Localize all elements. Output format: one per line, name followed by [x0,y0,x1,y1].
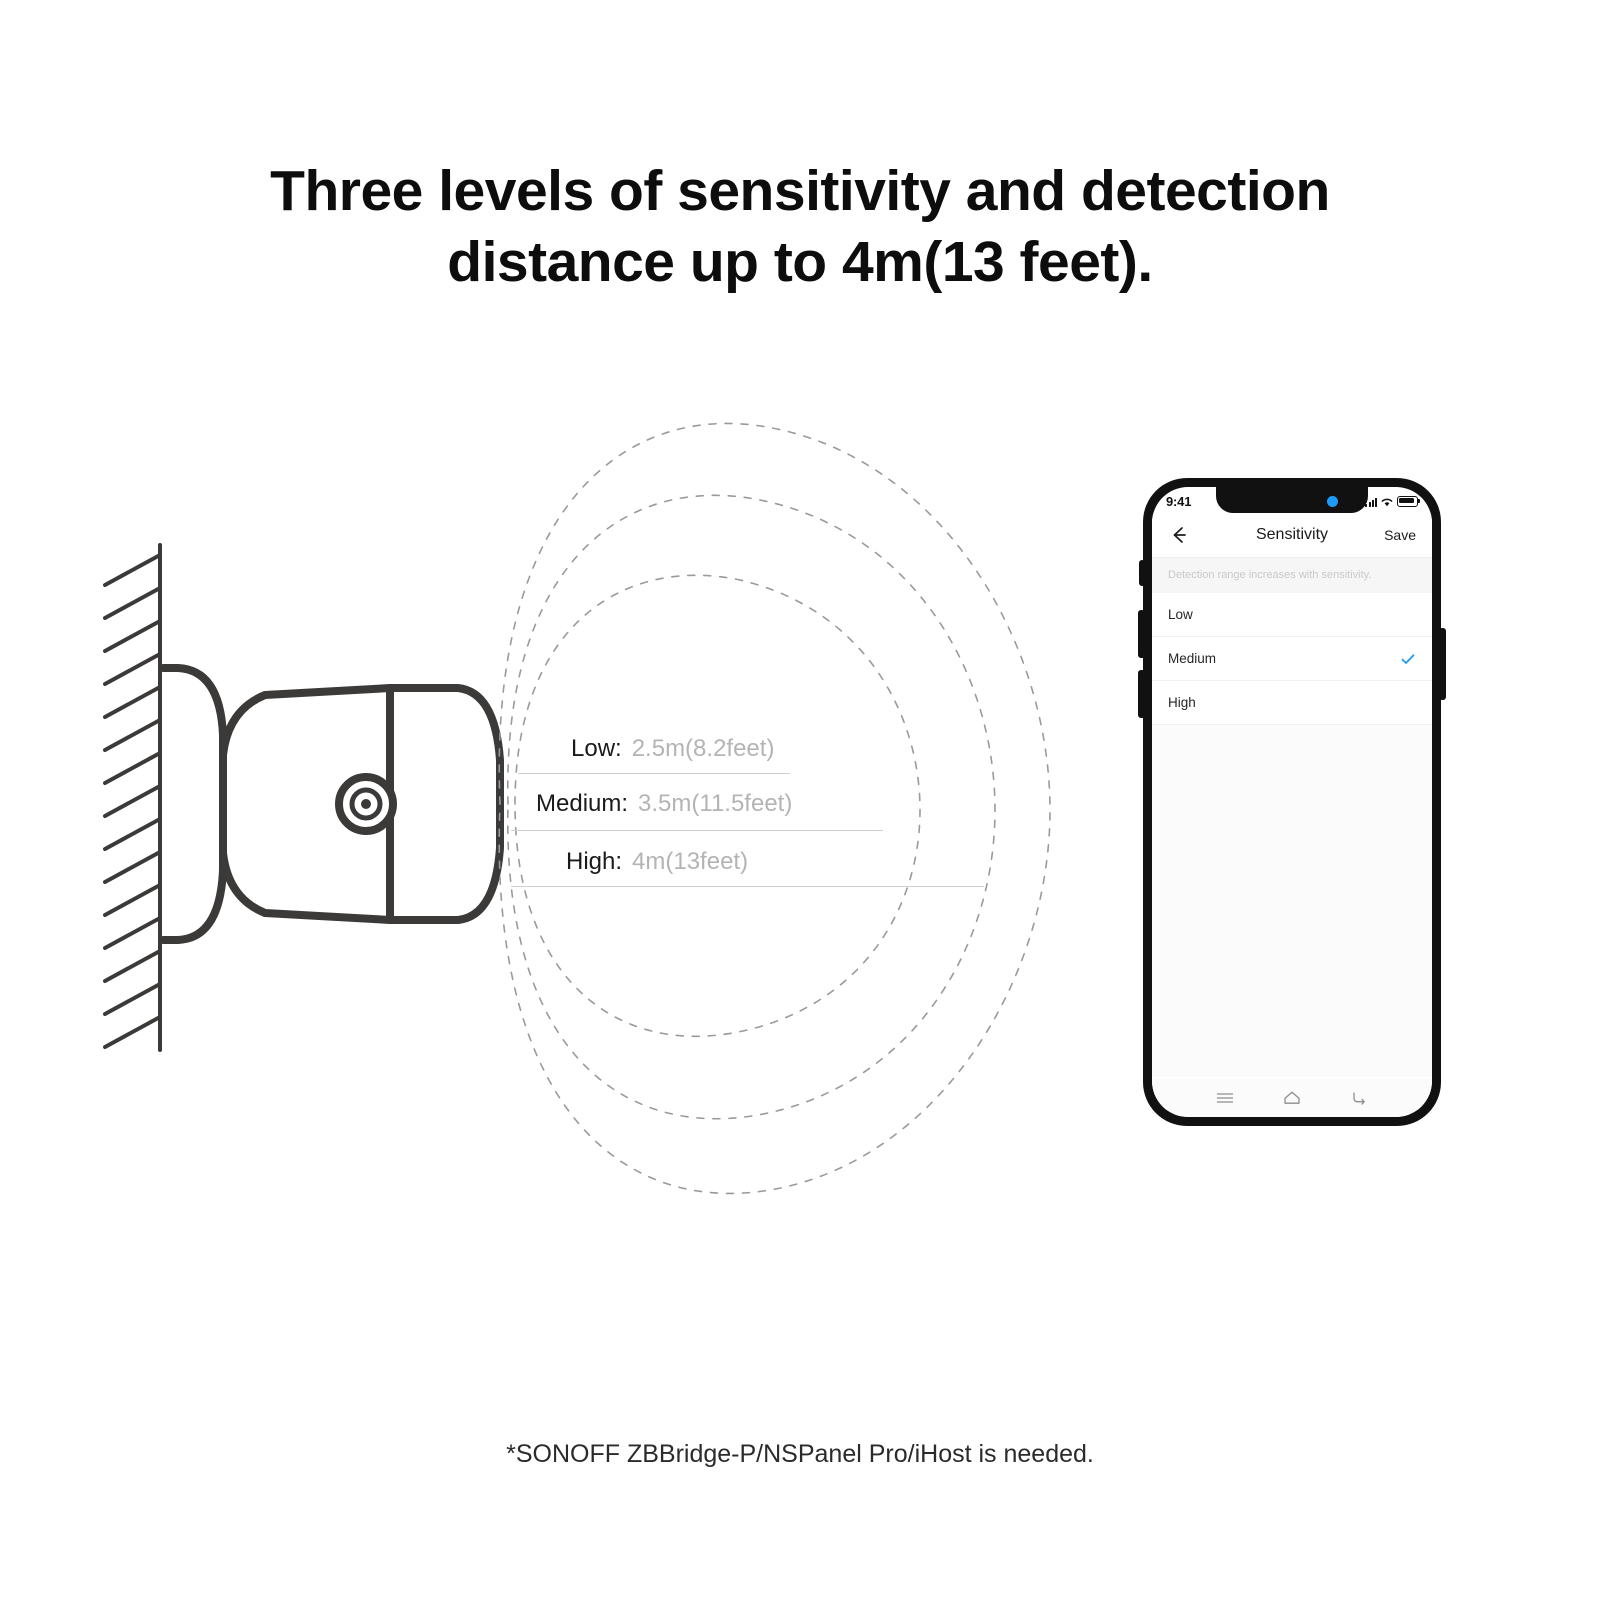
back-icon[interactable] [1350,1090,1368,1106]
cellular-signal-icon [1365,498,1377,507]
option-label-low: Low [1168,607,1193,622]
phone-volume-up-button[interactable] [1138,610,1145,658]
measure-line-low [518,773,790,774]
save-button[interactable]: Save [1384,527,1416,543]
status-bar: 9:41 [1152,487,1432,513]
option-label-high: High [1168,695,1196,710]
hint-text: Detection range increases with sensitivi… [1152,557,1432,593]
content-filler [1152,725,1432,1077]
camera-housing [390,688,500,920]
distance-value-high: 4m(13feet) [632,848,748,875]
distance-row-low: Low:2.5m(8.2feet) [571,735,774,763]
sensitivity-option-list: Low Medium High [1152,593,1432,725]
phone-mockup: 9:41 [1143,478,1441,1126]
footnote: *SONOFF ZBBridge-P/NSPanel Pro/iHost is … [0,1440,1600,1469]
distance-value-low: 2.5m(8.2feet) [632,735,775,762]
distance-label-high: High: [566,848,622,875]
phone-screen: 9:41 [1152,487,1432,1117]
menu-icon[interactable] [1216,1091,1234,1105]
status-bar-icons [1365,493,1418,508]
measure-line-medium [511,830,883,831]
phone-power-button[interactable] [1439,628,1446,700]
page-title-line-2: distance up to 4m(13 feet). [0,227,1600,298]
distance-row-high: High:4m(13feet) [566,848,748,876]
wall-illustration [105,545,160,1050]
distance-row-medium: Medium:3.5m(11.5feet) [536,790,792,818]
status-bar-time: 9:41 [1166,492,1191,509]
sensitivity-option-high[interactable]: High [1152,681,1432,725]
check-icon [1400,651,1416,667]
sensitivity-option-medium[interactable]: Medium [1152,637,1432,681]
home-icon[interactable] [1283,1090,1301,1106]
camera-mount [163,668,223,940]
distance-value-medium: 3.5m(11.5feet) [638,790,792,817]
camera-lens-icon [339,777,393,831]
option-label-medium: Medium [1168,651,1216,666]
page-title: Three levels of sensitivity and detectio… [0,156,1600,299]
sensitivity-option-low[interactable]: Low [1152,593,1432,637]
promo-page: Three levels of sensitivity and detectio… [0,0,1600,1600]
distance-label-low: Low: [571,735,622,762]
phone-volume-down-button[interactable] [1138,670,1145,718]
app-bar: Sensitivity Save [1152,513,1432,557]
distance-label-medium: Medium: [536,790,628,817]
battery-full-icon [1397,496,1418,508]
measure-line-high [511,886,984,887]
back-arrow-icon[interactable] [1168,524,1190,546]
wifi-icon [1381,497,1393,507]
android-navigation-bar [1152,1079,1432,1117]
page-title-line-1: Three levels of sensitivity and detectio… [270,159,1330,223]
phone-silent-switch[interactable] [1139,560,1145,586]
